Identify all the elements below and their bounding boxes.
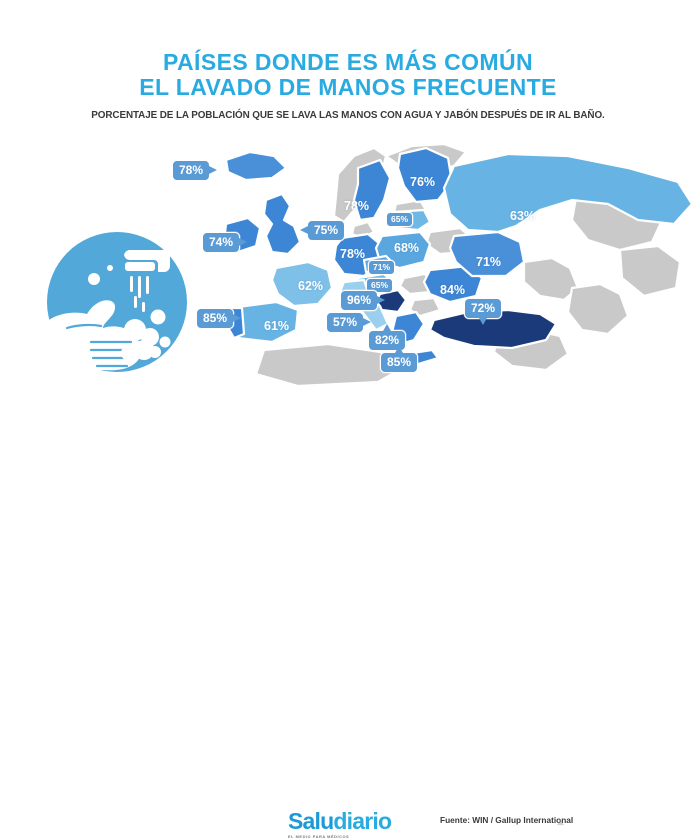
page-title-line-1: PAÍSES DONDE ES MÁS COMÚN bbox=[0, 50, 696, 75]
footer: Saludiario EL MEDIO PARA MÉDICOS Fuente:… bbox=[0, 402, 696, 464]
page-title-line-2: EL LAVADO DE MANOS FRECUENTE bbox=[0, 75, 696, 100]
country-sweden bbox=[354, 160, 390, 220]
source-mark-icon bbox=[556, 819, 565, 826]
logo-text-part-1: Salu bbox=[288, 808, 333, 834]
source-attribution: Fuente: WIN / Gallup International bbox=[440, 815, 573, 825]
handwashing-icon bbox=[47, 232, 187, 372]
europe-map: 78% 74% 75% 62% 85% 61% 78% 76% 65% 78% … bbox=[168, 138, 696, 388]
country-france bbox=[272, 262, 332, 306]
page-subtitle: PORCENTAJE DE LA POBLACIÓN QUE SE LAVA L… bbox=[10, 110, 685, 121]
country-iceland bbox=[226, 152, 286, 180]
country-united-kingdom bbox=[264, 194, 300, 254]
map-svg bbox=[168, 138, 696, 388]
country-ireland bbox=[224, 218, 260, 252]
saludiario-logo[interactable]: Saludiario EL MEDIO PARA MÉDICOS bbox=[288, 810, 391, 839]
country-russia bbox=[444, 154, 692, 232]
country-portugal bbox=[226, 308, 244, 338]
country-finland bbox=[398, 148, 452, 202]
country-crete bbox=[404, 350, 438, 364]
logo-tagline: EL MEDIO PARA MÉDICOS bbox=[288, 834, 391, 839]
infographic-root: PAÍSES DONDE ES MÁS COMÚN EL LAVADO DE M… bbox=[0, 0, 696, 464]
country-turkey bbox=[430, 310, 556, 348]
country-west-asia bbox=[568, 284, 628, 334]
region-north-africa bbox=[256, 344, 406, 386]
country-baltics bbox=[388, 210, 430, 230]
country-caucasus bbox=[524, 258, 578, 300]
logo-text-part-2: diario bbox=[333, 808, 391, 834]
country-central-asia bbox=[620, 246, 680, 296]
country-greece bbox=[392, 312, 424, 344]
header: PAÍSES DONDE ES MÁS COMÚN EL LAVADO DE M… bbox=[0, 50, 696, 121]
